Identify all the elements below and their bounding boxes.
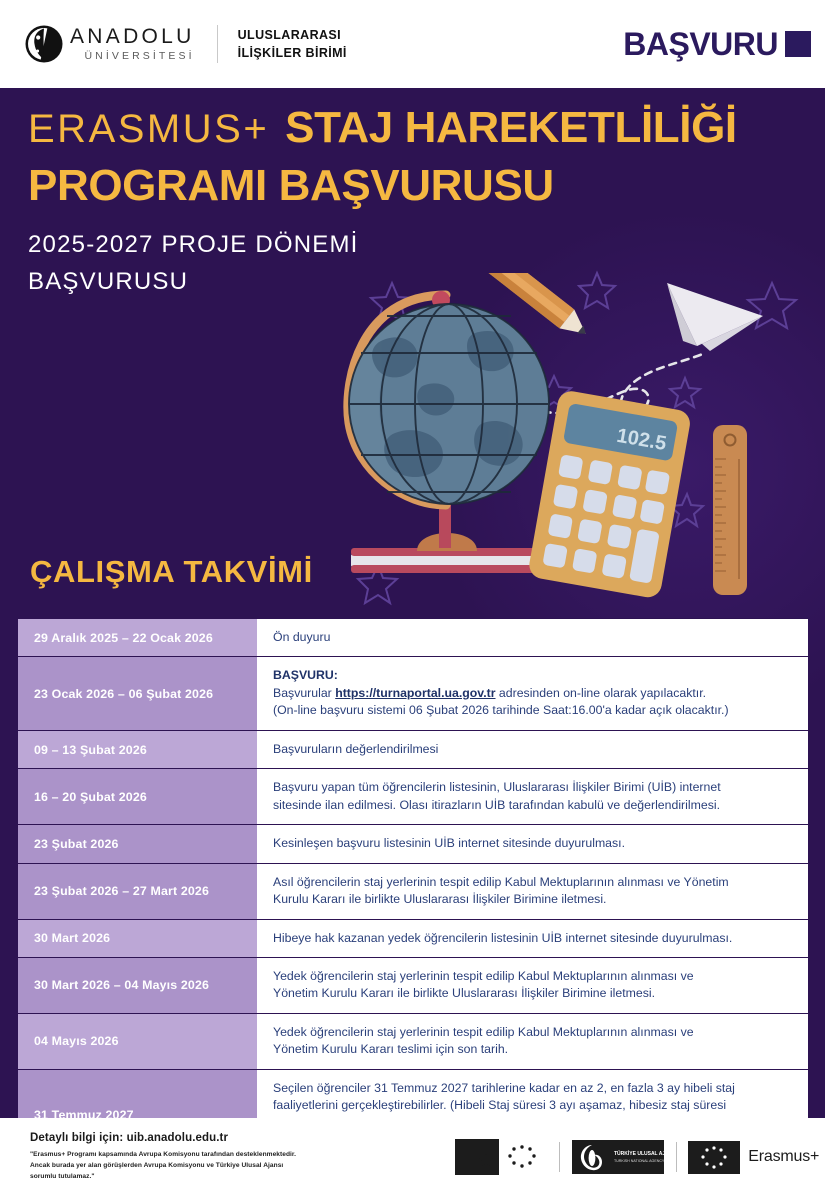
description-line: Seçilen öğrenciler 31 Temmuz 2027 tarihl… — [273, 1080, 794, 1097]
anadolu-emblem-icon — [24, 24, 64, 64]
table-cell-date: 09 – 13 Şubat 2026 — [18, 731, 259, 768]
description-line: sitesinde ilan edilmesi. Olası itirazlar… — [273, 797, 794, 814]
table-cell-description: Yedek öğrencilerin staj yerlerinin tespi… — [259, 1014, 808, 1069]
footer: Detaylı bilgi için: uib.anadolu.edu.tr "… — [0, 1118, 825, 1200]
table-cell-description: Hibeye hak kazanan yedek öğrencilerin li… — [259, 920, 808, 957]
description-line: Kurulu Kararı ile birlikte Uluslararası … — [273, 891, 794, 908]
description-line: 12 aya kadar uzatılabilir, artan hibe ol… — [273, 1115, 794, 1118]
education-illustration: 102.5 — [325, 273, 825, 618]
table-cell-description: Ön duyuru — [259, 619, 808, 656]
table-cell-date: 29 Aralık 2025 – 22 Ocak 2026 — [18, 619, 259, 656]
main-dark-panel: ERASMUS+ STAJ HAREKETLİLİĞİ PROGRAMI BAŞ… — [0, 88, 825, 1118]
ruler-icon — [713, 425, 747, 595]
top-header-bar: ANADOLU ÜNİVERSİTESİ ULUSLARARASI İLİŞKİ… — [0, 0, 825, 88]
description-line-bold: BAŞVURU: — [273, 667, 794, 684]
description-line: Başvuru yapan tüm öğrencilerin listesini… — [273, 779, 794, 796]
description-line: (On-line başvuru sistemi 06 Şubat 2026 t… — [273, 702, 794, 719]
description-line: Ön duyuru — [273, 629, 794, 646]
footer-logo-strip: TÜRKİYE ULUSAL AJANSI TURKISH NATIONAL A… — [455, 1134, 825, 1180]
table-row: 16 – 20 Şubat 2026Başvuru yapan tüm öğre… — [18, 769, 808, 825]
international-relations-unit: ULUSLARARASI İLİŞKİLER BİRİMİ — [238, 26, 347, 62]
hero-title-line-2: PROGRAMI BAŞVURUSU — [28, 164, 818, 208]
table-cell-description: Başvuru yapan tüm öğrencilerin listesini… — [259, 769, 808, 824]
disclaimer-line-1: "Erasmus+ Programı kapsamında Avrupa Kom… — [30, 1150, 430, 1161]
table-row: 30 Mart 2026Hibeye hak kazanan yedek öğr… — [18, 920, 808, 958]
disclaimer-line-3: sorumlu tutulamaz." — [30, 1172, 430, 1183]
erasmus-plus-wordmark: Erasmus+ — [748, 1148, 819, 1166]
table-row: 30 Mart 2026 – 04 Mayıs 2026Yedek öğrenc… — [18, 958, 808, 1014]
university-name: ANADOLU — [70, 26, 195, 47]
basvuru-badge-label: BAŞVURU — [623, 28, 778, 60]
table-cell-description: Asıl öğrencilerin staj yerlerinin tespit… — [259, 864, 808, 919]
basvuru-badge-square — [785, 31, 811, 57]
description-line: Başvuruların değerlendirilmesi — [273, 741, 794, 758]
anadolu-wordmark: ANADOLU ÜNİVERSİTESİ — [70, 26, 195, 62]
turkey-eu-flag-logo — [455, 1137, 547, 1177]
table-cell-date: 23 Şubat 2026 — [18, 825, 259, 862]
table-row: 31 Temmuz 2027Seçilen öğrenciler 31 Temm… — [18, 1070, 808, 1118]
hero-title-block: ERASMUS+ STAJ HAREKETLİLİĞİ PROGRAMI BAŞ… — [28, 106, 818, 300]
description-line: Yedek öğrencilerin staj yerlerinin tespi… — [273, 968, 794, 985]
unit-line-2: İLİŞKİLER BİRİMİ — [238, 44, 347, 62]
calendar-table: 29 Aralık 2025 – 22 Ocak 2026Ön duyuru23… — [18, 618, 808, 1118]
table-cell-date: 30 Mart 2026 – 04 Mayıs 2026 — [18, 958, 259, 1013]
hero-erasmus-word: ERASMUS+ — [28, 109, 269, 149]
turkish-national-agency-logo: TÜRKİYE ULUSAL AJANSI TURKISH NATIONAL A… — [572, 1137, 664, 1177]
basvuru-badge: BAŞVURU — [623, 28, 811, 60]
footer-info-link[interactable]: Detaylı bilgi için: uib.anadolu.edu.tr — [30, 1132, 430, 1144]
description-line: Asıl öğrencilerin staj yerlerinin tespit… — [273, 874, 794, 891]
footer-disclaimer: "Erasmus+ Programı kapsamında Avrupa Kom… — [30, 1150, 430, 1183]
disclaimer-line-2: Ancak burada yer alan görüşlerden Avrupa… — [30, 1161, 430, 1172]
ua-logo-line-1: TÜRKİYE ULUSAL AJANSI — [614, 1150, 664, 1157]
application-portal-link[interactable]: https://turnaportal.ua.gov.tr — [335, 686, 495, 700]
unit-line-1: ULUSLARARASI — [238, 26, 347, 44]
table-cell-description: BAŞVURU:Başvurular https://turnaportal.u… — [259, 657, 808, 729]
table-cell-date: 04 Mayıs 2026 — [18, 1014, 259, 1069]
table-row: 29 Aralık 2025 – 22 Ocak 2026Ön duyuru — [18, 618, 808, 657]
poster: ANADOLU ÜNİVERSİTESİ ULUSLARARASI İLİŞKİ… — [0, 0, 825, 1200]
calendar-heading: ÇALIŞMA TAKVİMİ — [30, 556, 313, 587]
table-cell-date: 30 Mart 2026 — [18, 920, 259, 957]
globe-icon — [348, 291, 549, 573]
description-line: faaliyetlerini gerçekleştirebilirler. (H… — [273, 1097, 794, 1114]
anadolu-university-logo: ANADOLU ÜNİVERSİTESİ ULUSLARARASI İLİŞKİ… — [24, 24, 347, 64]
eu-flag-icon — [688, 1141, 740, 1174]
ua-logo-line-2: TURKISH NATIONAL AGENCY — [614, 1159, 664, 1163]
hero-subtitle: 2025-2027 PROJE DÖNEMİ BAŞVURUSU — [28, 226, 818, 300]
hero-title-line-1: ERASMUS+ STAJ HAREKETLİLİĞİ — [28, 106, 818, 150]
table-row: 23 Şubat 2026 – 27 Mart 2026Asıl öğrenci… — [18, 864, 808, 920]
table-cell-description: Kesinleşen başvuru listesinin UİB intern… — [259, 825, 808, 862]
description-line: Yönetim Kurulu Kararı teslimi için son t… — [273, 1041, 794, 1058]
description-line-with-link: Başvurular https://turnaportal.ua.gov.tr… — [273, 685, 794, 702]
description-line: Kesinleşen başvuru listesinin UİB intern… — [273, 835, 794, 852]
table-row: 23 Ocak 2026 – 06 Şubat 2026BAŞVURU:Başv… — [18, 657, 808, 730]
description-line: Yönetim Kurulu Kararı ile birlikte Ulusl… — [273, 985, 794, 1002]
description-line: Hibeye hak kazanan yedek öğrencilerin li… — [273, 930, 794, 947]
hero-subtitle-line-1: 2025-2027 PROJE DÖNEMİ — [28, 226, 818, 263]
hero-staj-word: STAJ HAREKETLİLİĞİ — [285, 106, 737, 150]
table-cell-date: 23 Şubat 2026 – 27 Mart 2026 — [18, 864, 259, 919]
hero-subtitle-line-2: BAŞVURUSU — [28, 263, 818, 300]
table-cell-date: 16 – 20 Şubat 2026 — [18, 769, 259, 824]
table-cell-date: 23 Ocak 2026 – 06 Şubat 2026 — [18, 657, 259, 729]
description-line: Yedek öğrencilerin staj yerlerinin tespi… — [273, 1024, 794, 1041]
table-row: 23 Şubat 2026Kesinleşen başvuru listesin… — [18, 825, 808, 863]
table-row: 04 Mayıs 2026Yedek öğrencilerin staj yer… — [18, 1014, 808, 1070]
table-cell-description: Yedek öğrencilerin staj yerlerinin tespi… — [259, 958, 808, 1013]
logo-separator-2 — [676, 1142, 677, 1172]
calculator-icon: 102.5 — [527, 389, 692, 599]
university-subtitle: ÜNİVERSİTESİ — [70, 51, 195, 62]
logo-divider — [217, 25, 218, 63]
footer-text-block: Detaylı bilgi için: uib.anadolu.edu.tr "… — [30, 1132, 430, 1183]
table-cell-date: 31 Temmuz 2027 — [18, 1070, 259, 1118]
table-cell-description: Başvuruların değerlendirilmesi — [259, 731, 808, 768]
logo-separator — [559, 1142, 560, 1172]
table-row: 09 – 13 Şubat 2026Başvuruların değerlend… — [18, 731, 808, 769]
table-cell-description: Seçilen öğrenciler 31 Temmuz 2027 tarihl… — [259, 1070, 808, 1118]
erasmus-plus-logo: Erasmus+ — [688, 1137, 819, 1177]
